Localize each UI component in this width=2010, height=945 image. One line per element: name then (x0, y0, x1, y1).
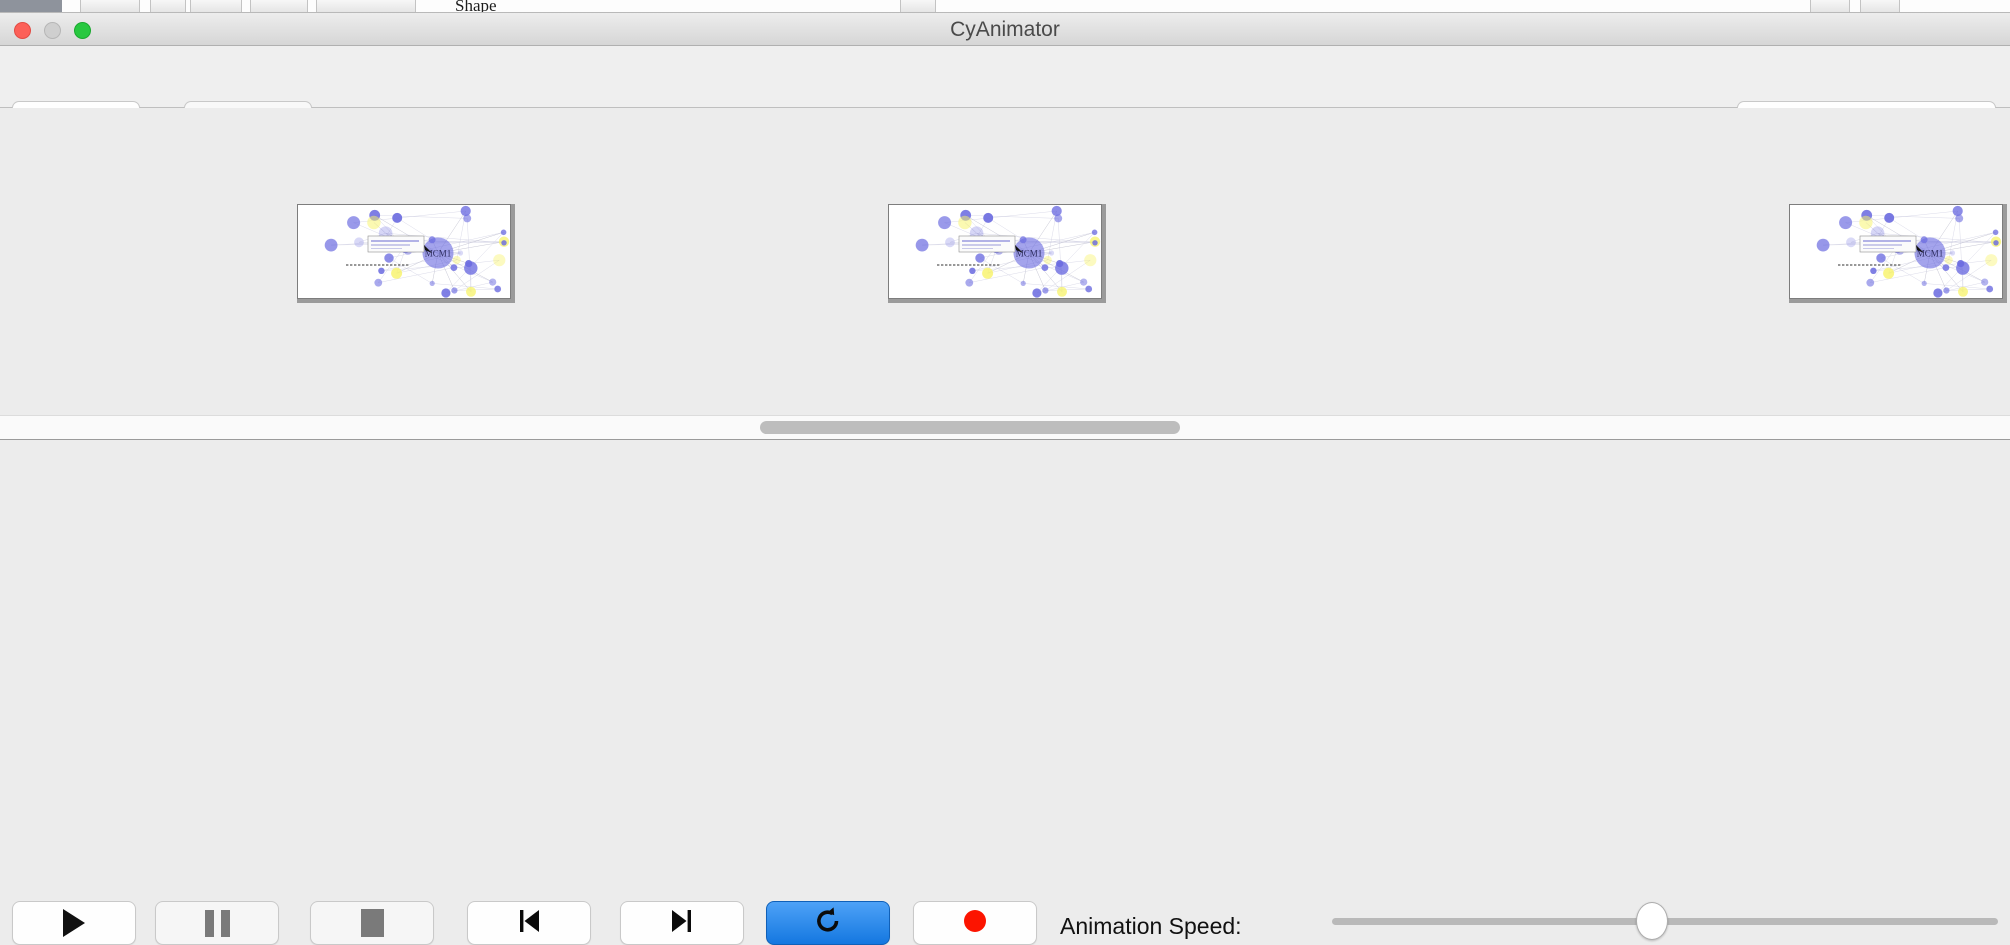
background-tab-7 (1810, 0, 1850, 13)
play-icon (63, 909, 85, 937)
background-ghost-label: Shape (455, 0, 497, 13)
skip-previous-icon (516, 907, 542, 940)
window-title-bar: CyAnimator (0, 13, 2010, 46)
animation-speed-label: Animation Speed: (1060, 913, 1242, 940)
stop-icon (361, 909, 384, 937)
animation-speed-slider[interactable] (1332, 916, 1998, 924)
timeline-scrollbar-thumb[interactable] (760, 421, 1180, 434)
pause-icon (205, 910, 230, 937)
window-title: CyAnimator (0, 13, 2010, 46)
pause-button[interactable] (155, 901, 279, 945)
background-window-strip: Shape (0, 0, 2010, 13)
background-tab-4 (250, 0, 308, 13)
frame-network-preview: MCM1 (297, 204, 511, 299)
record-button[interactable] (913, 901, 1037, 945)
record-icon (962, 908, 988, 939)
next-frame-button[interactable] (620, 901, 744, 945)
previous-frame-button[interactable] (467, 901, 591, 945)
frame-network-preview: MCM1 (1789, 204, 2003, 299)
frame-thumbnail[interactable]: MCM1 (297, 204, 515, 303)
background-tab-8 (1860, 0, 1900, 13)
frame-network-preview: MCM1 (888, 204, 1102, 299)
playback-control-bar: Animation Speed: (0, 439, 2010, 510)
background-tab-5 (316, 0, 416, 13)
animation-speed-knob[interactable] (1636, 902, 1668, 940)
frame-thumbnail[interactable]: MCM1 (888, 204, 1106, 303)
play-button[interactable] (12, 901, 136, 945)
loop-refresh-icon (813, 906, 843, 941)
loop-button[interactable] (766, 901, 890, 945)
skip-next-icon (669, 907, 695, 940)
timeline-scrollbar[interactable] (0, 415, 2010, 439)
background-tab-1 (80, 0, 140, 13)
background-tab-6 (900, 0, 936, 13)
stop-button[interactable] (310, 901, 434, 945)
background-tab-3 (190, 0, 242, 13)
frame-thumbnail[interactable]: MCM1 (1789, 204, 2007, 303)
timeline-panel[interactable]: MCM1 MCM1 MCM1 (0, 108, 2010, 413)
background-tab-2 (150, 0, 186, 13)
background-dark-block (0, 0, 62, 13)
frame-toolbar: + Clear All Frames (0, 46, 2010, 108)
